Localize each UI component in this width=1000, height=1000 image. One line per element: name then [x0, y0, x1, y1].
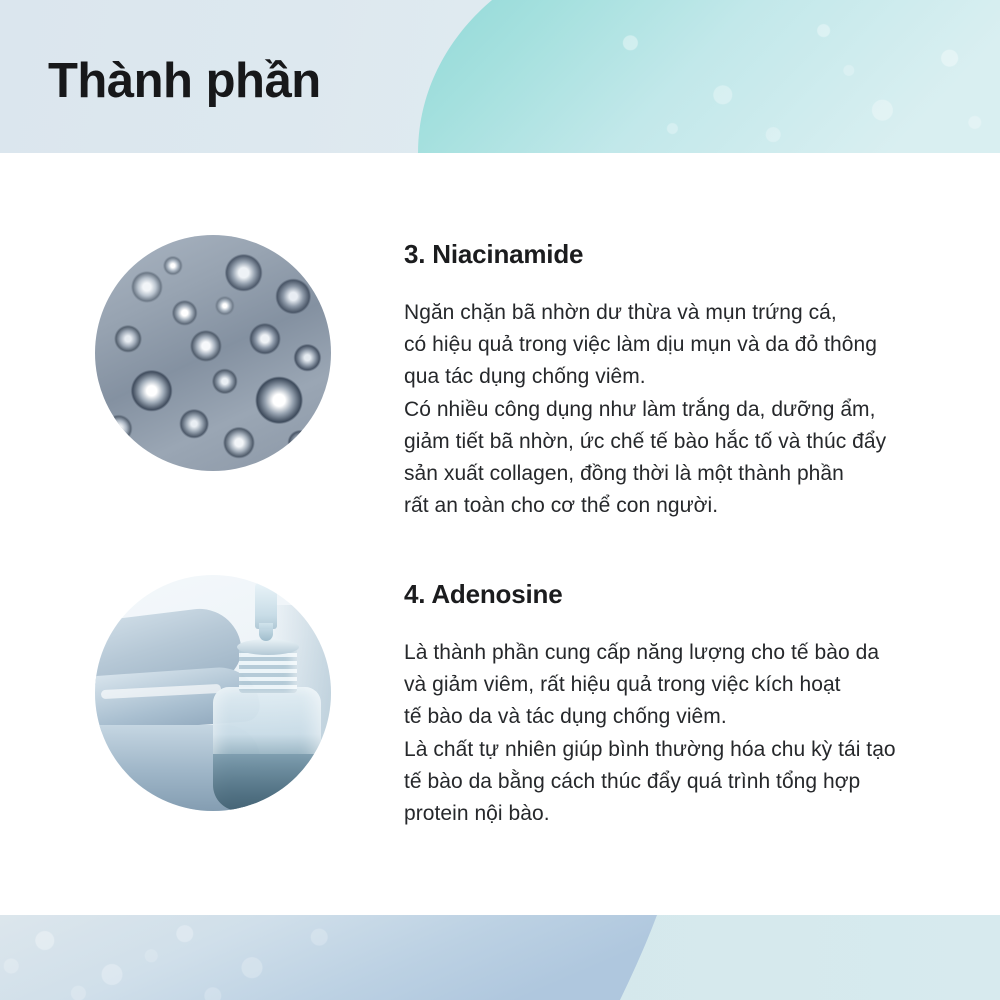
gel-bubbles-image [95, 235, 331, 471]
description-line: qua tác dụng chống viêm. [404, 361, 1000, 393]
dropper-tip [259, 623, 273, 641]
gel-bubbles-photo [95, 235, 331, 471]
ingredient-heading: 3. Niacinamide [404, 239, 1000, 270]
slide-page: Thành phần 3. Niacinamide Ngăn chặn bã n… [0, 0, 1000, 1000]
ingredient-item-adenosine: 4. Adenosine Là thành phần cung cấp năng… [0, 575, 1000, 830]
serum-bottle-ice-image [95, 575, 331, 811]
ingredient-description: Là thành phần cung cấp năng lượng cho tế… [404, 637, 1000, 830]
page-title: Thành phần [48, 54, 321, 109]
serum-bottle-mouth [237, 639, 299, 655]
description-line: sản xuất collagen, đồng thời là một thàn… [404, 458, 1000, 490]
ingredient-thumbnail-wrap [95, 235, 331, 471]
serum-bottle-ice-photo [95, 575, 331, 811]
header-bubble-texture [580, 0, 1000, 153]
page-header: Thành phần [0, 0, 1000, 153]
description-line: tế bào da và tác dụng chống viêm. [404, 701, 1000, 733]
description-line: tế bào da bằng cách thúc đẩy quá trình t… [404, 766, 1000, 798]
description-line: Có nhiều công dụng như làm trắng da, dưỡ… [404, 394, 1000, 426]
description-line: rất an toàn cho cơ thể con người. [404, 490, 1000, 522]
ingredient-item-niacinamide: 3. Niacinamide Ngăn chặn bã nhờn dư thừa… [0, 235, 1000, 522]
ingredient-thumbnail-wrap [95, 575, 331, 811]
ingredient-heading: 4. Adenosine [404, 579, 1000, 610]
description-line: protein nội bào. [404, 798, 1000, 830]
ingredient-text-block: 3. Niacinamide Ngăn chặn bã nhờn dư thừa… [404, 235, 1000, 522]
page-footer [0, 915, 1000, 1000]
description-line: giảm tiết bã nhờn, ức chế tế bào hắc tố … [404, 426, 1000, 458]
description-line: có hiệu quả trong việc làm dịu mụn và da… [404, 329, 1000, 361]
ingredients-list: 3. Niacinamide Ngăn chặn bã nhờn dư thừa… [0, 153, 1000, 915]
footer-bubble-texture [0, 915, 560, 1000]
description-line: và giảm viêm, rất hiệu quả trong việc kí… [404, 669, 1000, 701]
description-line: Ngăn chặn bã nhờn dư thừa và mụn trứng c… [404, 297, 1000, 329]
serum-liquid [213, 754, 321, 811]
ingredient-description: Ngăn chặn bã nhờn dư thừa và mụn trứng c… [404, 297, 1000, 522]
ingredient-text-block: 4. Adenosine Là thành phần cung cấp năng… [404, 575, 1000, 830]
description-line: Là chất tự nhiên giúp bình thường hóa ch… [404, 734, 1000, 766]
description-line: Là thành phần cung cấp năng lượng cho tế… [404, 637, 1000, 669]
serum-bottle-body [213, 687, 321, 811]
